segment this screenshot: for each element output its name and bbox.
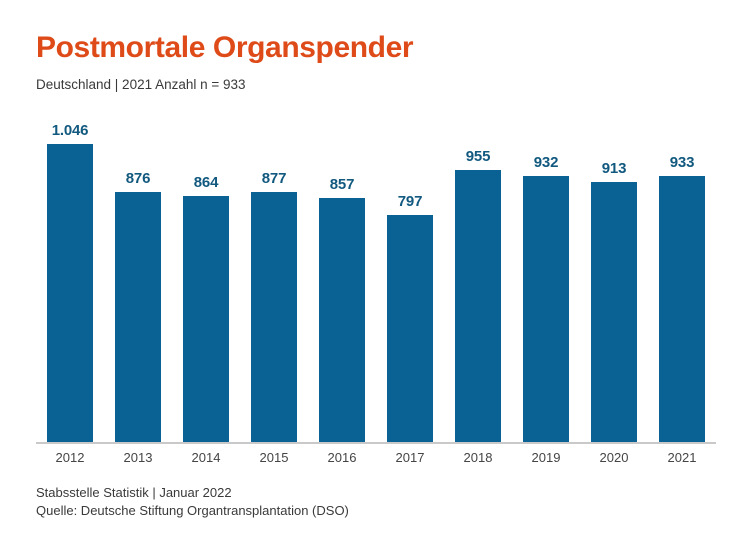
bar-value-label: 864: [172, 174, 240, 192]
x-axis-tick-label: 2020: [580, 448, 648, 468]
bar-value-label: 933: [648, 154, 716, 172]
bar[interactable]: [591, 182, 637, 442]
footer-line-source: Quelle: Deutsche Stiftung Organtransplan…: [36, 502, 349, 520]
plot-area: 1.046876864877857797955932913933: [36, 104, 716, 444]
x-axis-tick-label: 2018: [444, 448, 512, 468]
chart-page: Postmortale Organspender Deutschland | 2…: [0, 0, 750, 554]
bar-series: 1.046876864877857797955932913933: [36, 104, 716, 442]
footer: Stabsstelle Statistik | Januar 2022 Quel…: [36, 484, 349, 520]
bar-group: 877: [240, 104, 308, 442]
bar[interactable]: [523, 176, 569, 442]
bar[interactable]: [455, 170, 501, 442]
bar[interactable]: [387, 215, 433, 442]
bar-group: 933: [648, 104, 716, 442]
x-axis-tick-label: 2013: [104, 448, 172, 468]
bar-value-label: 955: [444, 148, 512, 166]
x-axis-tick-label: 2016: [308, 448, 376, 468]
bar[interactable]: [251, 192, 297, 442]
bar-value-label: 797: [376, 193, 444, 211]
x-axis-labels: 2012201320142015201620172018201920202021: [36, 448, 716, 470]
bar-group: 913: [580, 104, 648, 442]
x-axis-tick-label: 2017: [376, 448, 444, 468]
x-axis-tick-label: 2012: [36, 448, 104, 468]
bar[interactable]: [115, 192, 161, 442]
bar-value-label: 857: [308, 176, 376, 194]
x-axis-line: [36, 442, 716, 444]
bar-value-label: 913: [580, 160, 648, 178]
x-axis-tick-label: 2014: [172, 448, 240, 468]
footer-line-source-office: Stabsstelle Statistik | Januar 2022: [36, 484, 349, 502]
bar-group: 1.046: [36, 104, 104, 442]
bar-value-label: 876: [104, 170, 172, 188]
bar-group: 857: [308, 104, 376, 442]
bar[interactable]: [47, 144, 93, 442]
bar[interactable]: [659, 176, 705, 442]
x-axis-tick-label: 2021: [648, 448, 716, 468]
bar-group: 932: [512, 104, 580, 442]
bar-group: 955: [444, 104, 512, 442]
bar[interactable]: [319, 198, 365, 442]
x-axis-tick-label: 2019: [512, 448, 580, 468]
x-axis-tick-label: 2015: [240, 448, 308, 468]
bar[interactable]: [183, 196, 229, 442]
bar-value-label: 877: [240, 170, 308, 188]
page-title: Postmortale Organspender: [36, 30, 413, 66]
bar-value-label: 932: [512, 154, 580, 172]
bar-group: 864: [172, 104, 240, 442]
chart-subtitle: Deutschland | 2021 Anzahl n = 933: [36, 76, 246, 93]
bar-group: 876: [104, 104, 172, 442]
bar-group: 797: [376, 104, 444, 442]
bar-value-label: 1.046: [36, 122, 104, 140]
